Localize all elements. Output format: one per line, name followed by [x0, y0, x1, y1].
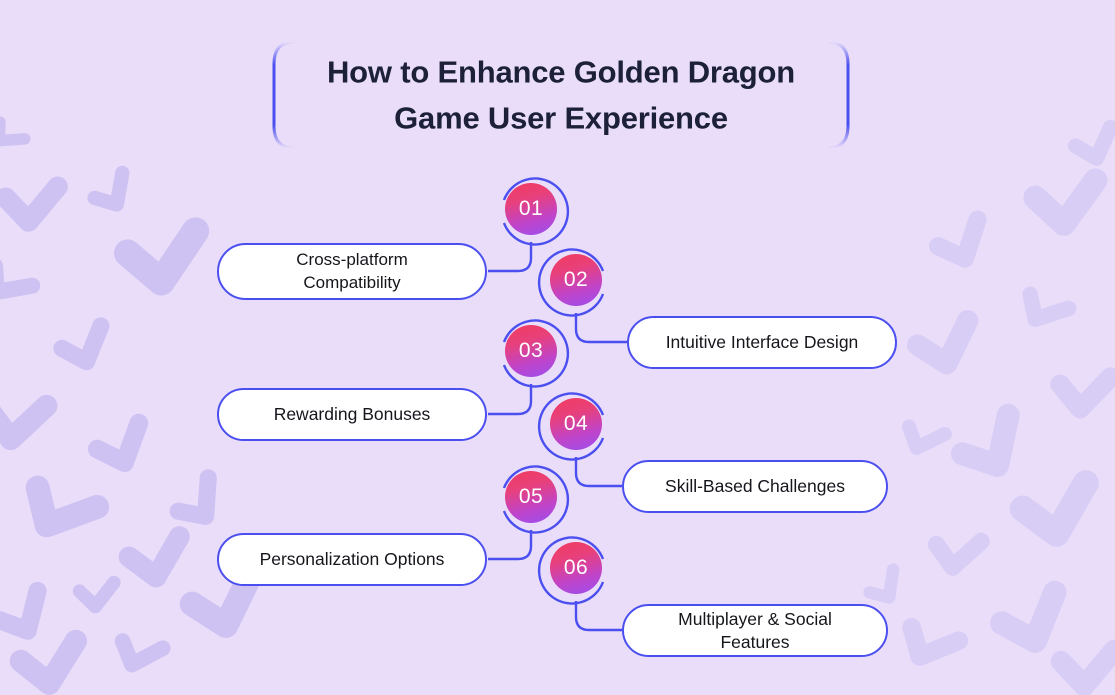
page-title-line-1: How to Enhance Golden Dragon	[327, 54, 795, 89]
title-block: How to Enhance Golden Dragon Game User E…	[266, 38, 856, 152]
step-badge-05[interactable]: 05	[505, 471, 557, 523]
list-item-01-label[interactable]: Cross-platform Compatibility	[217, 243, 487, 300]
step-badge-04[interactable]: 04	[550, 398, 602, 450]
item-01-line-2: Compatibility	[303, 273, 400, 292]
step-badge-03[interactable]: 03	[505, 325, 557, 377]
page-title: How to Enhance Golden Dragon Game User E…	[302, 49, 820, 140]
list-item-03-label[interactable]: Rewarding Bonuses	[217, 388, 487, 441]
list-item-05-label[interactable]: Personalization Options	[217, 533, 487, 586]
page-title-line-2: Game User Experience	[394, 100, 728, 135]
list-item-06-label[interactable]: Multiplayer & Social Features	[622, 604, 888, 657]
list-item-04-label[interactable]: Skill-Based Challenges	[622, 460, 888, 513]
item-01-line-1: Cross-platform	[296, 250, 407, 269]
infographic-canvas: How to Enhance Golden Dragon Game User E…	[0, 0, 1115, 695]
step-badge-06[interactable]: 06	[550, 542, 602, 594]
list-item-02-label[interactable]: Intuitive Interface Design	[627, 316, 897, 369]
step-badge-01[interactable]: 01	[505, 183, 557, 235]
step-badge-02[interactable]: 02	[550, 254, 602, 306]
